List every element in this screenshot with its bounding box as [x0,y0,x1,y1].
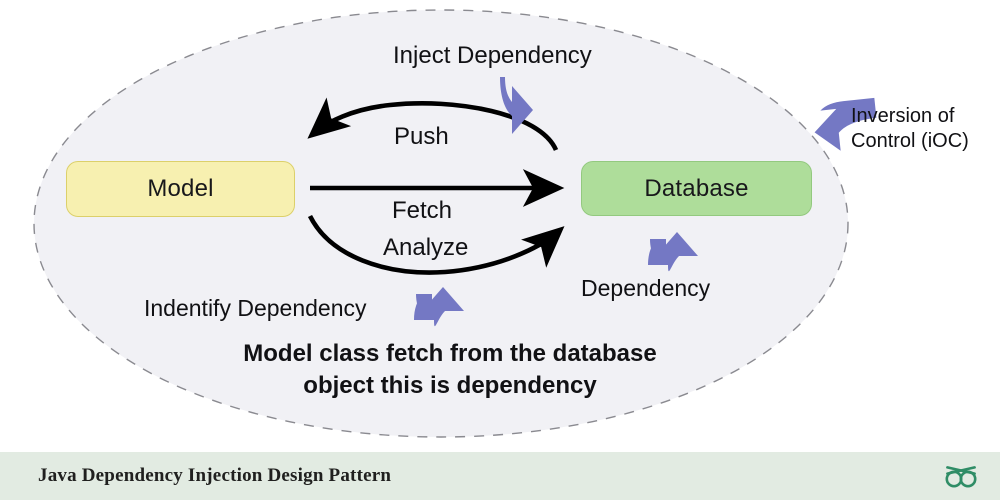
label-dependency: Dependency [581,274,710,302]
diagram-caption: Model class fetch from the database obje… [150,338,750,403]
footer-bar: Java Dependency Injection Design Pattern [0,452,1000,500]
diagram-canvas: Model Database Inject Dependency Inversi… [0,0,1000,500]
label-inversion-of-control: Inversion of Control (iOC) [851,104,969,154]
label-inject-dependency: Inject Dependency [393,41,592,70]
footer-title: Java Dependency Injection Design Pattern [38,465,391,487]
node-database[interactable]: Database [581,161,812,216]
geeksforgeeks-logo [944,463,978,489]
label-fetch: Fetch [392,196,452,225]
label-indentify-dependency: Indentify Dependency [144,294,367,322]
node-model[interactable]: Model [66,161,295,217]
label-analyze: Analyze [383,233,468,262]
node-database-label: Database [644,175,748,203]
node-model-label: Model [147,175,213,203]
label-push: Push [394,122,449,151]
